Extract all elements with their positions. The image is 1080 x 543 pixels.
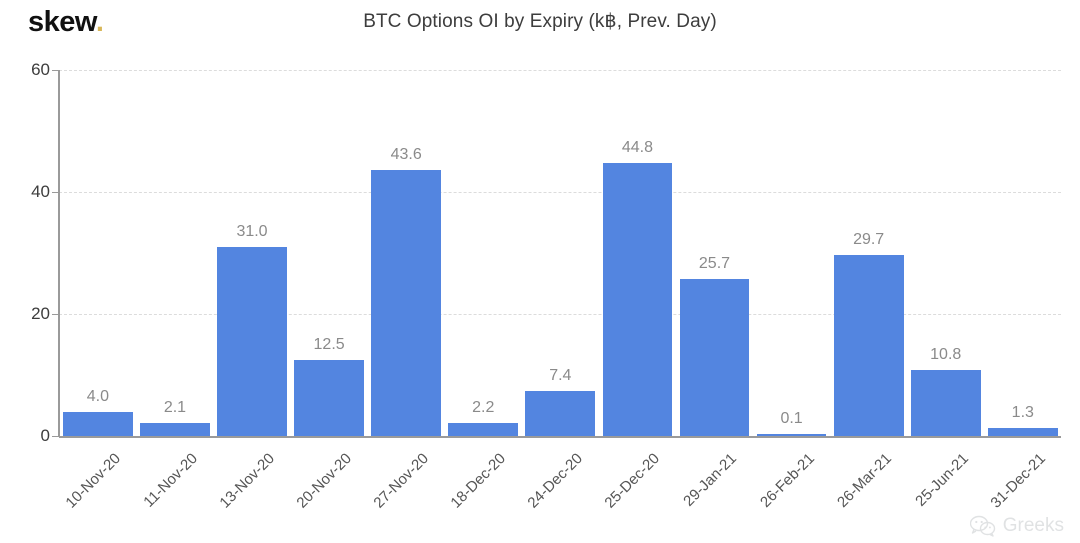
y-tick-label: 20 — [6, 304, 50, 324]
wechat-icon — [970, 515, 996, 537]
bar-group: 1.3 — [988, 70, 1058, 436]
x-axis-tick-labels: 10-Nov-2011-Nov-2013-Nov-2020-Nov-2027-N… — [59, 436, 1061, 543]
bar-value-label: 44.8 — [589, 139, 687, 157]
bar[interactable] — [63, 412, 133, 436]
bar[interactable] — [834, 255, 904, 436]
bar-group: 7.4 — [525, 70, 595, 436]
bar-value-label: 43.6 — [357, 146, 455, 164]
bar-group: 2.2 — [448, 70, 518, 436]
x-tick-label-text: 25-Dec-20 — [602, 450, 664, 512]
x-tick-label-text: 11-Nov-20 — [140, 450, 201, 511]
x-tick-label-text: 18-Dec-20 — [448, 450, 510, 512]
x-tick-label-text: 29-Jan-21 — [681, 450, 741, 510]
bar-value-label: 25.7 — [666, 255, 764, 273]
watermark-text: Greeks — [1003, 515, 1064, 537]
bar-value-label: 12.5 — [280, 336, 378, 354]
y-axis-tick-labels: 0204060 — [0, 0, 50, 543]
bar-group: 10.8 — [911, 70, 981, 436]
plot-area: 4.02.131.012.543.62.27.444.825.70.129.71… — [59, 70, 1061, 436]
y-tick-mark — [52, 70, 60, 71]
x-tick-label-text: 26-Mar-21 — [834, 450, 895, 511]
y-tick-mark — [52, 192, 60, 193]
x-tick-label-text: 13-Nov-20 — [216, 450, 278, 512]
bar-value-label: 2.1 — [126, 399, 224, 417]
bar-group: 43.6 — [371, 70, 441, 436]
bar-group: 44.8 — [603, 70, 673, 436]
bar-group: 0.1 — [757, 70, 827, 436]
bar[interactable] — [603, 163, 673, 436]
bar-group: 31.0 — [217, 70, 287, 436]
watermark: Greeks — [970, 515, 1064, 537]
x-tick-label-text: 10-Nov-20 — [62, 450, 124, 512]
chart-title: BTC Options OI by Expiry (k฿, Prev. Day) — [0, 10, 1080, 33]
y-tick-label: 40 — [6, 182, 50, 202]
bar-group: 25.7 — [680, 70, 750, 436]
bar[interactable] — [371, 170, 441, 436]
x-tick-label-text: 25-Jun-21 — [912, 450, 972, 510]
bar-group: 4.0 — [63, 70, 133, 436]
bar-group: 12.5 — [294, 70, 364, 436]
y-tick-label: 0 — [6, 426, 50, 446]
x-tick-label-text: 20-Nov-20 — [294, 450, 356, 512]
bar-value-label: 31.0 — [203, 223, 301, 241]
y-tick-mark — [52, 436, 60, 437]
bar-value-label: 10.8 — [897, 346, 995, 364]
x-tick-label-text: 24-Dec-20 — [525, 450, 587, 512]
bar-value-label: 1.3 — [974, 404, 1072, 422]
chart-page: skew. BTC Options OI by Expiry (k฿, Prev… — [0, 0, 1080, 543]
bar-group: 29.7 — [834, 70, 904, 436]
bar-value-label: 29.7 — [820, 231, 918, 249]
x-tick-label-text: 27-Nov-20 — [371, 450, 433, 512]
y-tick-mark — [52, 314, 60, 315]
x-tick-label-text: 26-Feb-21 — [757, 450, 818, 511]
bar[interactable] — [217, 247, 287, 436]
x-tick-label-text: 31-Dec-21 — [987, 450, 1049, 512]
y-tick-label: 60 — [6, 60, 50, 80]
bar-value-label: 7.4 — [511, 367, 609, 385]
bar-value-label: 2.2 — [434, 399, 532, 417]
bar-group: 2.1 — [140, 70, 210, 436]
